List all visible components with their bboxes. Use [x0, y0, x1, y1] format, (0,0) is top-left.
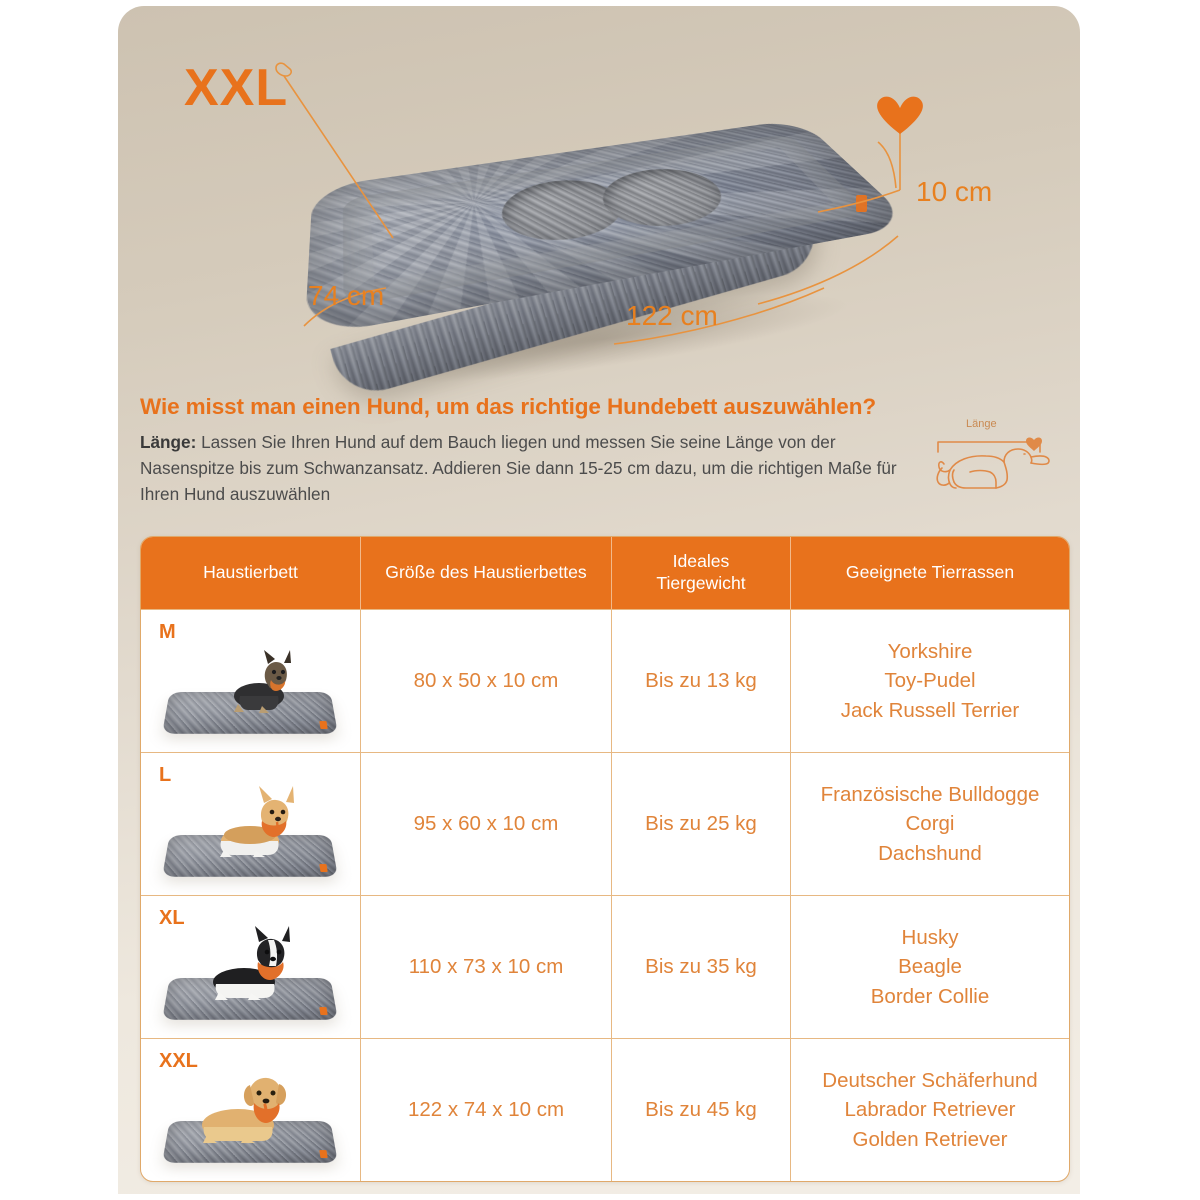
bed-size-value: 122 x 74 x 10 cm — [408, 1095, 564, 1124]
breeds-value: Französische Bulldogge Corgi Dachshund — [821, 780, 1040, 867]
cell-bed-thumb-m: M — [141, 610, 361, 752]
table-row: XL — [141, 895, 1069, 1038]
breed-line-1: Husky — [902, 926, 959, 949]
table-header-row: Haustierbett Größe des Haustierbettes Id… — [141, 537, 1069, 609]
weight-value: Bis zu 25 kg — [645, 809, 757, 838]
size-chart-table: Haustierbett Größe des Haustierbettes Id… — [140, 536, 1070, 1182]
dog-corgi-icon — [158, 777, 343, 887]
header-breeds: Geeignete Tierrassen — [791, 537, 1069, 609]
breeds-value: Yorkshire Toy-Pudel Jack Russell Terrier — [841, 637, 1019, 724]
dog-yorkshire-terrier-icon — [158, 634, 343, 744]
length-label: Länge: — [140, 432, 196, 452]
header-ideal-weight: Ideales Tiergewicht — [612, 537, 791, 609]
weight-value: Bis zu 35 kg — [645, 952, 757, 981]
dog-measure-diagram: Länge — [930, 420, 1066, 502]
how-to-measure-section: Wie misst man einen Hund, um das richtig… — [140, 394, 1070, 514]
thumb-l — [158, 777, 343, 887]
dog-border-collie-icon — [158, 920, 343, 1030]
breed-line-2: Beagle — [898, 955, 962, 978]
header-bed-size: Größe des Haustierbettes — [361, 537, 612, 609]
dimension-width-label: 122 cm — [626, 300, 718, 332]
how-to-measure-title: Wie misst man einen Hund, um das richtig… — [140, 394, 1070, 420]
cell-bed-thumb-xl: XL — [141, 896, 361, 1038]
breed-line-1: Deutscher Schäferhund — [822, 1069, 1037, 1092]
header-pet-bed: Haustierbett — [141, 537, 361, 609]
cell-breeds-l: Französische Bulldogge Corgi Dachshund — [791, 753, 1069, 895]
cell-bed-size-xxl: 122 x 74 x 10 cm — [361, 1039, 612, 1181]
dimension-depth-label: 74 cm — [308, 280, 384, 312]
infographic-page: XXL — [0, 0, 1200, 1200]
length-description: Lassen Sie Ihren Hund auf dem Bauch lieg… — [140, 432, 897, 504]
breed-line-3: Border Collie — [871, 985, 990, 1008]
cell-bed-size-m: 80 x 50 x 10 cm — [361, 610, 612, 752]
bed-size-value: 95 x 60 x 10 cm — [414, 809, 559, 838]
breed-line-1: Französische Bulldogge — [821, 783, 1040, 806]
hero-section: XXL — [118, 6, 1080, 396]
breed-line-2: Corgi — [905, 812, 954, 835]
table-row: L — [141, 752, 1069, 895]
table-row: M — [141, 609, 1069, 752]
cell-breeds-xl: Husky Beagle Border Collie — [791, 896, 1069, 1038]
bed-size-value: 80 x 50 x 10 cm — [414, 666, 559, 695]
cell-bed-size-l: 95 x 60 x 10 cm — [361, 753, 612, 895]
cell-bed-thumb-xxl: XXL — [141, 1039, 361, 1181]
table-row: XXL — [141, 1038, 1069, 1181]
beige-panel: XXL — [118, 6, 1080, 1194]
thumb-m — [158, 634, 343, 744]
heart-marker-right — [877, 97, 923, 134]
cell-breeds-xxl: Deutscher Schäferhund Labrador Retriever… — [791, 1039, 1069, 1181]
thumb-xxl — [158, 1063, 343, 1173]
dog-measure-label: Länge — [966, 418, 997, 430]
breed-line-2: Labrador Retriever — [845, 1098, 1016, 1121]
thumb-xl — [158, 920, 343, 1030]
cell-weight-l: Bis zu 25 kg — [612, 753, 791, 895]
breed-line-2: Toy-Pudel — [884, 669, 975, 692]
header-weight-line1: Ideales — [673, 551, 730, 571]
breed-line-1: Yorkshire — [888, 640, 973, 663]
dog-outline-icon — [930, 420, 1066, 502]
cell-bed-thumb-l: L — [141, 753, 361, 895]
dog-golden-retriever-icon — [158, 1063, 343, 1173]
breed-line-3: Golden Retriever — [853, 1128, 1008, 1151]
cell-weight-m: Bis zu 13 kg — [612, 610, 791, 752]
header-weight-line2: Tiergewicht — [656, 573, 745, 593]
how-to-measure-body: Länge: Lassen Sie Ihren Hund auf dem Bau… — [140, 429, 900, 507]
breeds-value: Husky Beagle Border Collie — [871, 923, 990, 1010]
weight-value: Bis zu 13 kg — [645, 666, 757, 695]
breed-line-3: Dachshund — [878, 842, 982, 865]
cell-weight-xxl: Bis zu 45 kg — [612, 1039, 791, 1181]
weight-value: Bis zu 45 kg — [645, 1095, 757, 1124]
cell-breeds-m: Yorkshire Toy-Pudel Jack Russell Terrier — [791, 610, 1069, 752]
cell-weight-xl: Bis zu 35 kg — [612, 896, 791, 1038]
cell-bed-size-xl: 110 x 73 x 10 cm — [361, 896, 612, 1038]
breeds-value: Deutscher Schäferhund Labrador Retriever… — [822, 1066, 1037, 1153]
breed-line-3: Jack Russell Terrier — [841, 699, 1019, 722]
dimension-height-label: 10 cm — [916, 176, 992, 208]
bed-size-value: 110 x 73 x 10 cm — [409, 952, 564, 981]
heart-marker-left — [276, 63, 291, 76]
